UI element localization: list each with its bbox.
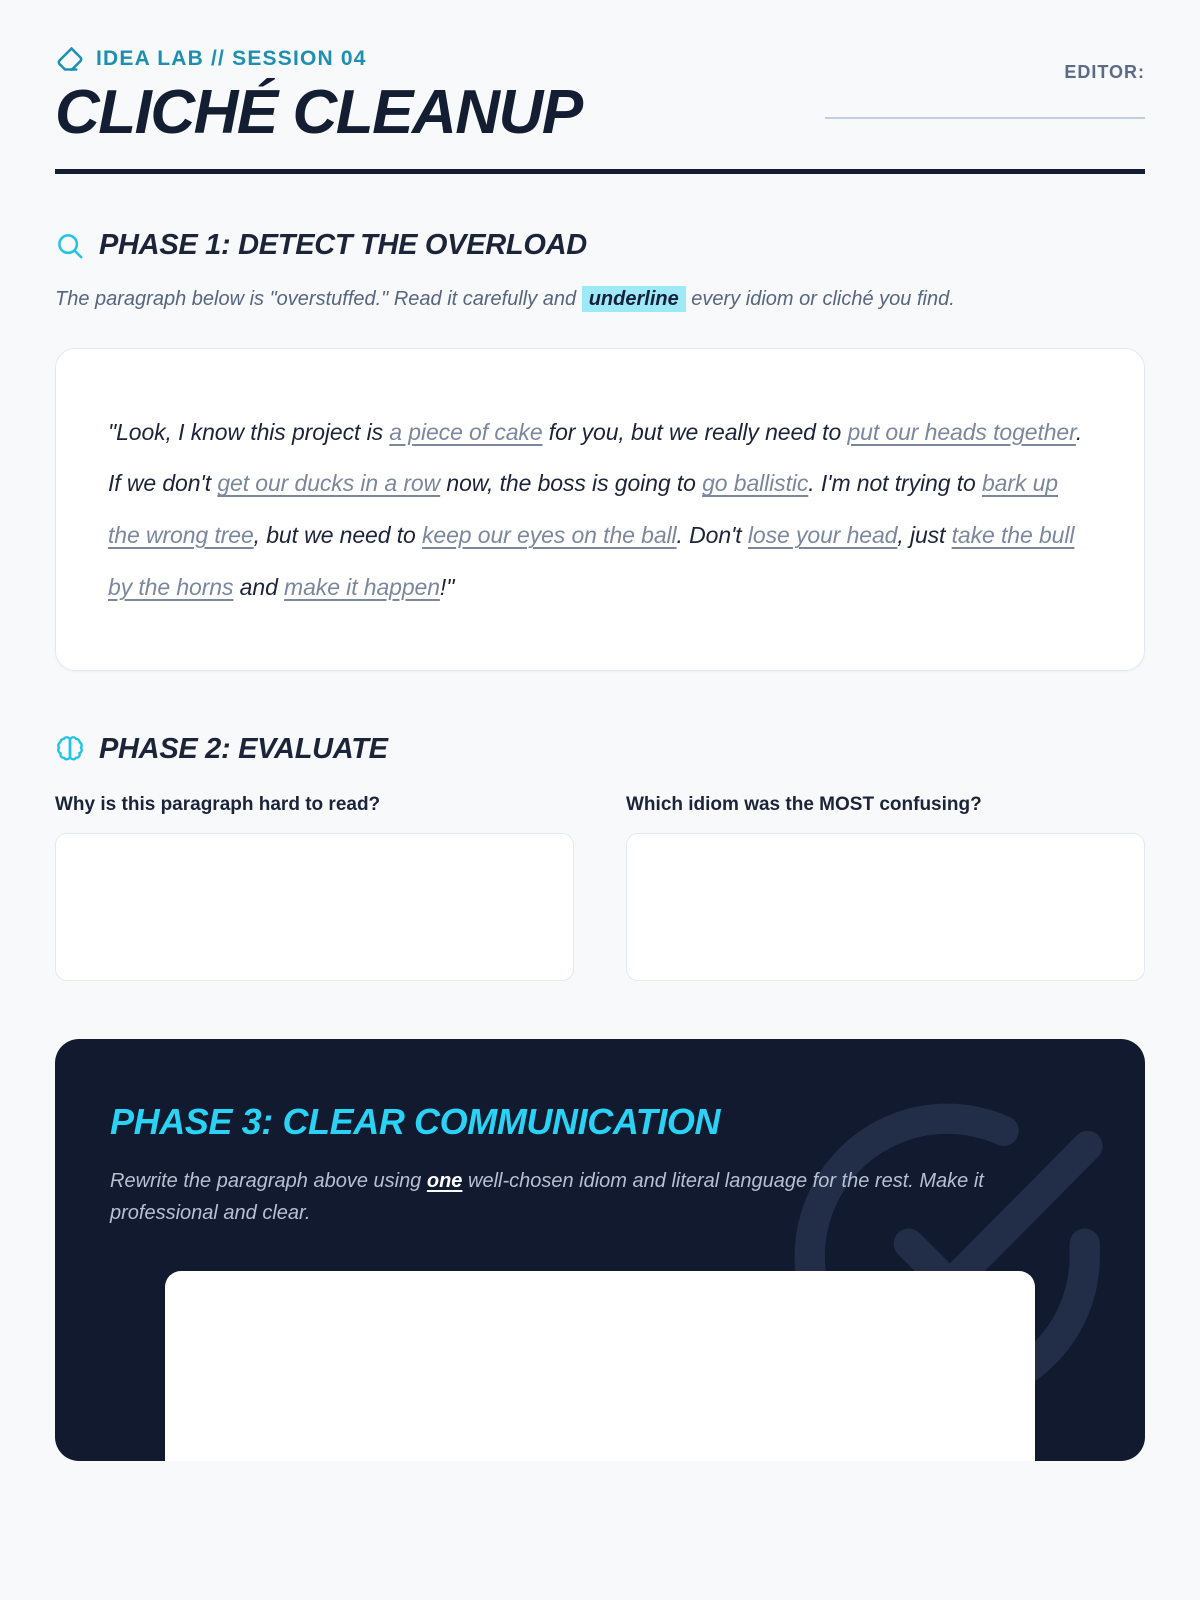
idiom-span[interactable]: a piece of cake <box>389 419 542 445</box>
phase-3-title: PHASE 3: CLEAR COMMUNICATION <box>110 1101 1090 1143</box>
instruction-after: every idiom or cliché you find. <box>691 288 954 310</box>
question-label: Which idiom was the MOST confusing? <box>626 794 1145 816</box>
idiom-span[interactable]: get our ducks in a row <box>217 470 440 496</box>
editor-field: EDITOR: <box>825 62 1145 119</box>
idiom-span[interactable]: go ballistic <box>702 470 808 496</box>
phase-2-section: PHASE 2: EVALUATE Why is this paragraph … <box>55 733 1145 981</box>
overstuffed-paragraph-card: "Look, I know this project is a piece of… <box>55 348 1145 671</box>
paragraph-text-span: , just <box>897 522 951 548</box>
overstuffed-paragraph-text[interactable]: "Look, I know this project is a piece of… <box>108 407 1092 614</box>
phase-1-title: PHASE 1: DETECT THE OVERLOAD <box>99 229 587 262</box>
phase-3-desc-before: Rewrite the paragraph above using <box>110 1170 421 1192</box>
idiom-span[interactable]: make it happen <box>284 574 440 600</box>
instruction-before: The paragraph below is "overstuffed." Re… <box>55 288 576 310</box>
paragraph-text-span: , but we need to <box>254 522 422 548</box>
eyebrow-text: IDEA LAB // SESSION 04 <box>96 47 367 71</box>
phase-3-instruction: Rewrite the paragraph above using one we… <box>110 1165 1060 1229</box>
brain-icon <box>55 734 85 764</box>
phase-1-instruction: The paragraph below is "overstuffed." Re… <box>55 284 1115 316</box>
phase-2-question-grid: Why is this paragraph hard to read? Whic… <box>55 794 1145 981</box>
instruction-highlight: underline <box>582 286 686 312</box>
paragraph-text-span: !" <box>440 574 454 600</box>
idiom-span[interactable]: keep our eyes on the ball <box>422 522 677 548</box>
page-header: IDEA LAB // SESSION 04 CLICHÉ CLEANUP ED… <box>55 0 1145 174</box>
question-item: Why is this paragraph hard to read? <box>55 794 574 981</box>
paragraph-text-span: . Don't <box>677 522 748 548</box>
editor-label: EDITOR: <box>825 62 1145 83</box>
idiom-span[interactable]: lose your head <box>748 522 897 548</box>
question-label: Why is this paragraph hard to read? <box>55 794 574 816</box>
question-item: Which idiom was the MOST confusing? <box>626 794 1145 981</box>
editor-write-line[interactable] <box>825 117 1145 119</box>
answer-box-most-confusing-idiom[interactable] <box>626 833 1145 981</box>
header-divider <box>55 169 1145 174</box>
paragraph-text-span: for you, but we really need to <box>543 419 848 445</box>
search-icon <box>55 231 85 261</box>
phase-1-heading: PHASE 1: DETECT THE OVERLOAD <box>55 229 1145 262</box>
phase-2-heading: PHASE 2: EVALUATE <box>55 733 1145 766</box>
phase-1-section: PHASE 1: DETECT THE OVERLOAD The paragra… <box>55 229 1145 671</box>
phase-2-title: PHASE 2: EVALUATE <box>99 733 388 766</box>
phase-3-desc-emphasis: one <box>427 1170 463 1192</box>
answer-box-why-hard-to-read[interactable] <box>55 833 574 981</box>
paragraph-text-span: now, the boss is going to <box>440 470 702 496</box>
paragraph-text-span: . I'm not trying to <box>808 470 982 496</box>
gem-icon <box>55 44 85 74</box>
worksheet-page: IDEA LAB // SESSION 04 CLICHÉ CLEANUP ED… <box>0 0 1200 1600</box>
paragraph-text-span: and <box>233 574 284 600</box>
paragraph-text-span: "Look, I know this project is <box>108 419 389 445</box>
idiom-span[interactable]: put our heads together <box>847 419 1075 445</box>
phase-3-section: PHASE 3: CLEAR COMMUNICATION Rewrite the… <box>55 1039 1145 1461</box>
rewrite-answer-box[interactable] <box>165 1271 1035 1461</box>
